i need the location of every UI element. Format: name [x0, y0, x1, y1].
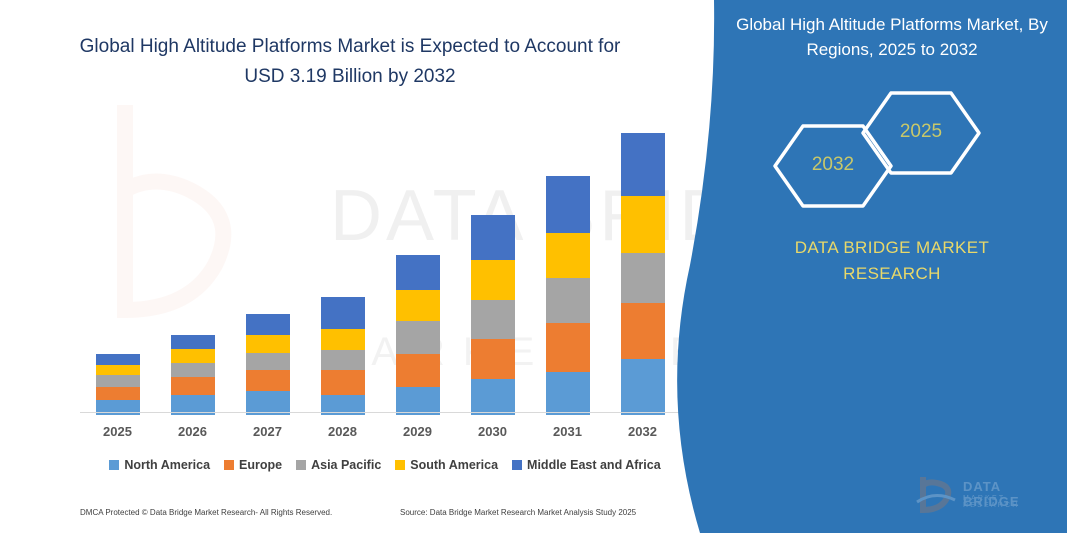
bar-segment-europe: [96, 387, 140, 400]
bar-segment-europe: [621, 303, 665, 359]
legend-swatch-icon: [109, 460, 119, 470]
legend-item-middle-east-and-africa[interactable]: Middle East and Africa: [512, 458, 661, 472]
panel-content: Global High Altitude Platforms Market, B…: [712, 0, 1067, 533]
bar-segment-asia-pacific: [246, 353, 290, 370]
hexagon-2032: 2032: [772, 123, 894, 209]
bar-2029: [396, 255, 440, 415]
bar-segment-middle-east-and-africa: [96, 354, 140, 365]
bar-segment-north-america: [621, 359, 665, 415]
x-axis-label-2026: 2026: [158, 424, 228, 439]
bar-2027: [246, 314, 290, 415]
bar-segment-south-america: [246, 335, 290, 353]
x-axis-labels: 20252026202720282029203020312032: [80, 424, 680, 444]
brand-name: DATA BRIDGE MARKET RESEARCH: [732, 235, 1052, 287]
x-axis-label-2028: 2028: [308, 424, 378, 439]
panel-title: Global High Altitude Platforms Market, B…: [732, 12, 1052, 62]
bar-segment-middle-east-and-africa: [621, 133, 665, 196]
legend-swatch-icon: [296, 460, 306, 470]
bar-segment-middle-east-and-africa: [471, 215, 515, 261]
bar-2032: [621, 133, 665, 415]
bar-segment-north-america: [396, 387, 440, 415]
legend-swatch-icon: [395, 460, 405, 470]
bar-segment-europe: [396, 354, 440, 387]
legend-label: North America: [124, 458, 210, 472]
brand-line-1: DATA BRIDGE MARKET: [732, 235, 1052, 261]
bar-2025: [96, 354, 140, 415]
x-axis-label-2029: 2029: [383, 424, 453, 439]
bar-segment-middle-east-and-africa: [321, 297, 365, 329]
chart-title: Global High Altitude Platforms Market is…: [70, 32, 630, 92]
bar-segment-asia-pacific: [171, 363, 215, 377]
bar-segment-asia-pacific: [546, 278, 590, 324]
footer-copyright: DMCA Protected © Data Bridge Market Rese…: [80, 508, 332, 517]
x-axis-label-2025: 2025: [83, 424, 153, 439]
legend-swatch-icon: [224, 460, 234, 470]
brand-line-2: RESEARCH: [732, 261, 1052, 287]
stacked-bar-chart: [80, 120, 680, 415]
footer-logo-subtitle: MARKET RESEARCH: [963, 495, 1055, 509]
legend-label: Asia Pacific: [311, 458, 381, 472]
legend-item-asia-pacific[interactable]: Asia Pacific: [296, 458, 381, 472]
bar-segment-north-america: [471, 379, 515, 415]
legend-label: Middle East and Africa: [527, 458, 661, 472]
bar-segment-asia-pacific: [96, 375, 140, 386]
legend-item-europe[interactable]: Europe: [224, 458, 282, 472]
bar-segment-south-america: [96, 365, 140, 375]
chart-legend: North AmericaEuropeAsia PacificSouth Ame…: [95, 455, 675, 475]
hexagon-group: 2025 2032: [752, 90, 1032, 210]
bar-segment-asia-pacific: [321, 350, 365, 370]
hexagon-2032-label: 2032: [772, 154, 894, 176]
footer-logo: DATA BRIDGE MARKET RESEARCH: [915, 470, 1055, 518]
bar-segment-south-america: [321, 329, 365, 350]
bar-segment-south-america: [396, 290, 440, 322]
legend-label: Europe: [239, 458, 282, 472]
bar-segment-middle-east-and-africa: [171, 335, 215, 349]
bar-segment-south-america: [621, 196, 665, 253]
bar-segment-europe: [321, 370, 365, 394]
legend-item-north-america[interactable]: North America: [109, 458, 210, 472]
bar-2026: [171, 335, 215, 415]
infographic-canvas: DATA BRIDGE MARKET RESEARCH Global High …: [0, 0, 1067, 533]
bar-segment-middle-east-and-africa: [396, 255, 440, 290]
bar-segment-asia-pacific: [621, 253, 665, 303]
bar-segment-europe: [246, 370, 290, 390]
bar-segment-europe: [471, 339, 515, 380]
bar-segment-middle-east-and-africa: [246, 314, 290, 334]
bar-segment-europe: [171, 377, 215, 394]
footer: DMCA Protected © Data Bridge Market Rese…: [80, 508, 680, 524]
x-axis-label-2030: 2030: [458, 424, 528, 439]
bar-segment-south-america: [546, 233, 590, 278]
legend-label: South America: [410, 458, 498, 472]
bar-segment-north-america: [546, 372, 590, 415]
bar-segment-asia-pacific: [471, 300, 515, 339]
bar-segment-europe: [546, 323, 590, 372]
bar-2031: [546, 176, 590, 415]
bar-2028: [321, 297, 365, 415]
bridge-logo-icon: [915, 474, 957, 514]
legend-item-south-america[interactable]: South America: [395, 458, 498, 472]
bar-2030: [471, 215, 515, 415]
legend-swatch-icon: [512, 460, 522, 470]
bar-segment-south-america: [471, 260, 515, 300]
x-axis-label-2032: 2032: [608, 424, 678, 439]
bar-segment-middle-east-and-africa: [546, 176, 590, 233]
footer-source: Source: Data Bridge Market Research Mark…: [400, 508, 636, 517]
x-axis-line: [80, 412, 680, 413]
x-axis-label-2031: 2031: [533, 424, 603, 439]
bar-segment-asia-pacific: [396, 321, 440, 354]
x-axis-label-2027: 2027: [233, 424, 303, 439]
bar-segment-south-america: [171, 349, 215, 363]
